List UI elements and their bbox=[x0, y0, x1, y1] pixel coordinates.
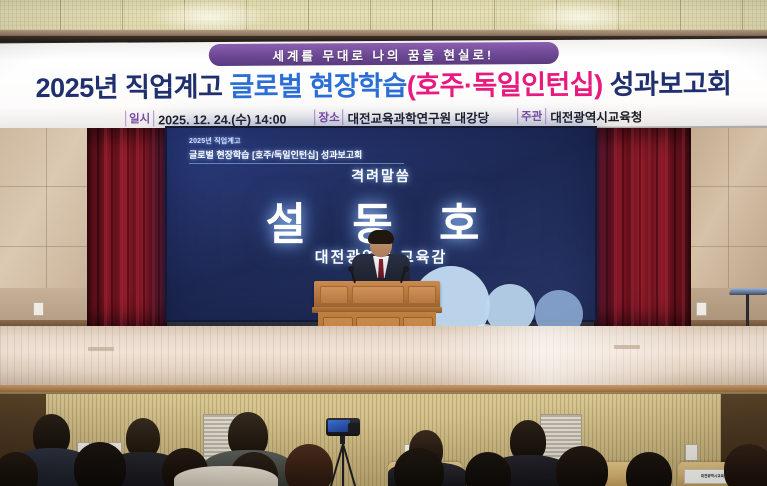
camera-lens-icon bbox=[348, 423, 360, 433]
audience-head-front bbox=[724, 444, 767, 486]
slogan-text: 세계를 무대로 나의 꿈을 현실로! bbox=[272, 44, 494, 64]
info-value-host: 대전광역시교육청 bbox=[550, 106, 642, 126]
headline-part-4: 성과보고회 bbox=[610, 70, 732, 98]
event-banner: 세계를 무대로 나의 꿈을 현실로! 2025년 직업계고 글로벌 현장학습 (… bbox=[0, 39, 767, 134]
podium-top bbox=[314, 281, 440, 309]
upper-acoustic-wall bbox=[0, 0, 767, 34]
headline-part-3: (호주·독일인턴십) bbox=[407, 71, 603, 99]
auditorium-scene: 세계를 무대로 나의 꿈을 현실로! 2025년 직업계고 글로벌 현장학습 (… bbox=[0, 0, 767, 486]
stage-wall-right bbox=[690, 128, 767, 288]
stage-floor bbox=[0, 326, 767, 388]
headline-part-2: 글로벌 현장학습 bbox=[229, 72, 407, 100]
slide-section-label: 격려말씀 bbox=[351, 168, 411, 184]
slide-header: 2025년 직업계고 글로벌 현장학습 [호주/독일인턴십] 성과보고회 bbox=[189, 136, 439, 164]
wall-socket-5 bbox=[685, 444, 698, 461]
tripod-leg bbox=[342, 444, 360, 486]
banner-info-item: 주관 대전광역시교육청 bbox=[517, 106, 642, 126]
camera-neck bbox=[340, 435, 345, 444]
floor-vent-right bbox=[614, 345, 640, 349]
microphone-head-right bbox=[403, 266, 409, 272]
info-tag-date: 일시 bbox=[125, 110, 154, 126]
slide-header-line1: 2025년 직업계고 bbox=[189, 136, 439, 146]
speaker-glasses bbox=[371, 241, 391, 247]
info-tag-place: 장소 bbox=[314, 109, 343, 125]
slide-section-label-row: 격려말씀 bbox=[167, 166, 595, 186]
stage-curtain-left bbox=[87, 128, 167, 333]
slogan-pill: 세계를 무대로 나의 꿈을 현실로! bbox=[208, 42, 558, 66]
banner-headline: 2025년 직업계고 글로벌 현장학습 (호주·독일인턴십) 성과보고회 bbox=[0, 63, 767, 110]
stage-curtain-right bbox=[594, 128, 691, 333]
camera-flip-screen bbox=[328, 420, 350, 432]
acoustic-perforation-texture bbox=[0, 0, 767, 34]
info-value-date: 2025. 12. 24.(수) 14:00 bbox=[158, 108, 286, 128]
audience-shoulders-front bbox=[174, 466, 278, 486]
floor-light-sheen bbox=[430, 326, 690, 388]
headline-part-1: 2025년 직업계고 bbox=[36, 73, 223, 101]
microphone-head-left bbox=[348, 266, 354, 272]
wall-outlet-left bbox=[33, 302, 44, 316]
audience-head-front bbox=[285, 444, 333, 486]
floor-vent-left bbox=[88, 347, 114, 351]
info-value-place: 대전교육과학연구원 대강당 bbox=[348, 107, 490, 127]
slide-header-line2: 글로벌 현장학습 [호주/독일인턴십] 성과보고회 bbox=[189, 148, 439, 161]
info-tag-host: 주관 bbox=[517, 108, 546, 124]
wall-outlet-right bbox=[696, 302, 707, 316]
audience-head-front bbox=[74, 442, 126, 486]
banner-info-item: 장소 대전교육과학연구원 대강당 bbox=[314, 107, 489, 127]
slide-header-underline bbox=[189, 163, 404, 164]
stage-wall-left bbox=[0, 128, 92, 288]
